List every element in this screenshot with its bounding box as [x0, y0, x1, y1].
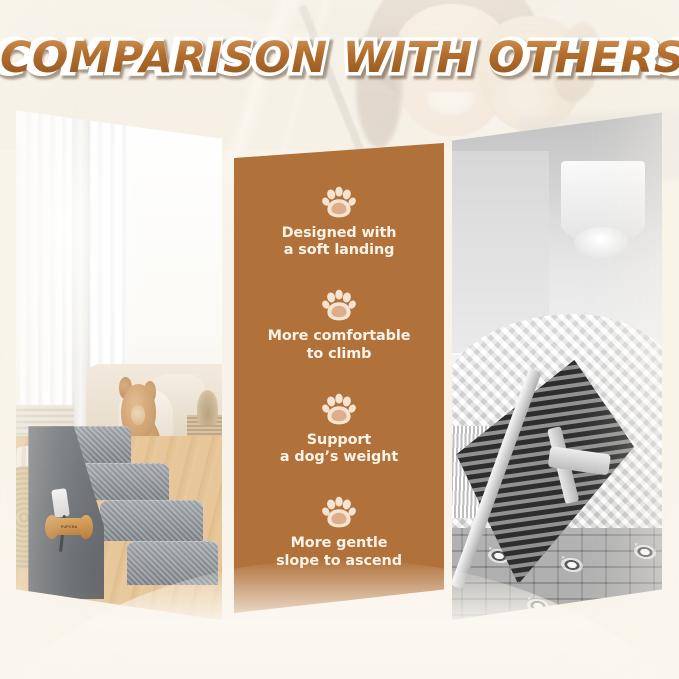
- stair-step: [127, 541, 218, 585]
- bone-logo-text: PUPCHA: [49, 518, 89, 535]
- feature-item: Support a dog’s weight: [242, 393, 436, 467]
- pet-ramp: [452, 353, 651, 590]
- comparison-infographic: COMPARISON WITH OTHERS COMPARISON WITH O…: [0, 0, 679, 679]
- dog-ramp-photo-panel: [452, 110, 662, 620]
- rug-motif: [526, 597, 550, 615]
- dog-stairs-photo-panel: PUPCHA: [16, 108, 222, 620]
- feature-item: More comfortable to climb: [242, 289, 436, 363]
- rug-motif: [609, 601, 633, 619]
- title-fill-layer: COMPARISON WITH OTHERS: [0, 33, 679, 83]
- paw-icon: [322, 393, 356, 425]
- page-title: COMPARISON WITH OTHERS COMPARISON WITH O…: [0, 37, 679, 80]
- feature-label: Support a dog’s weight: [280, 432, 398, 467]
- feature-list-panel: Designed with a soft landing More comfor…: [234, 143, 444, 613]
- paw-icon: [322, 496, 356, 528]
- bedroom-ramp-scene: [452, 110, 662, 620]
- paw-icon: [322, 289, 356, 321]
- feature-item: Designed with a soft landing: [242, 186, 436, 260]
- panel-row: PUPCHA Designed w: [0, 0, 679, 679]
- bedroom-scene: PUPCHA: [16, 108, 222, 620]
- feature-label: Designed with a soft landing: [282, 225, 397, 260]
- ramp-treads: [452, 353, 651, 590]
- pet-stairs: PUPCHA: [28, 415, 218, 599]
- title-stack: COMPARISON WITH OTHERS COMPARISON WITH O…: [0, 37, 679, 80]
- feature-label: More comfortable to climb: [268, 328, 411, 363]
- stair-step: [100, 500, 202, 541]
- feature-item: More gentle slope to ascend: [242, 496, 436, 570]
- bedside-table: [574, 227, 629, 258]
- bone-logo-tag: PUPCHA: [49, 518, 89, 535]
- paw-icon: [322, 186, 356, 218]
- feature-label: More gentle slope to ascend: [276, 535, 402, 570]
- feature-list: Designed with a soft landing More comfor…: [234, 165, 444, 595]
